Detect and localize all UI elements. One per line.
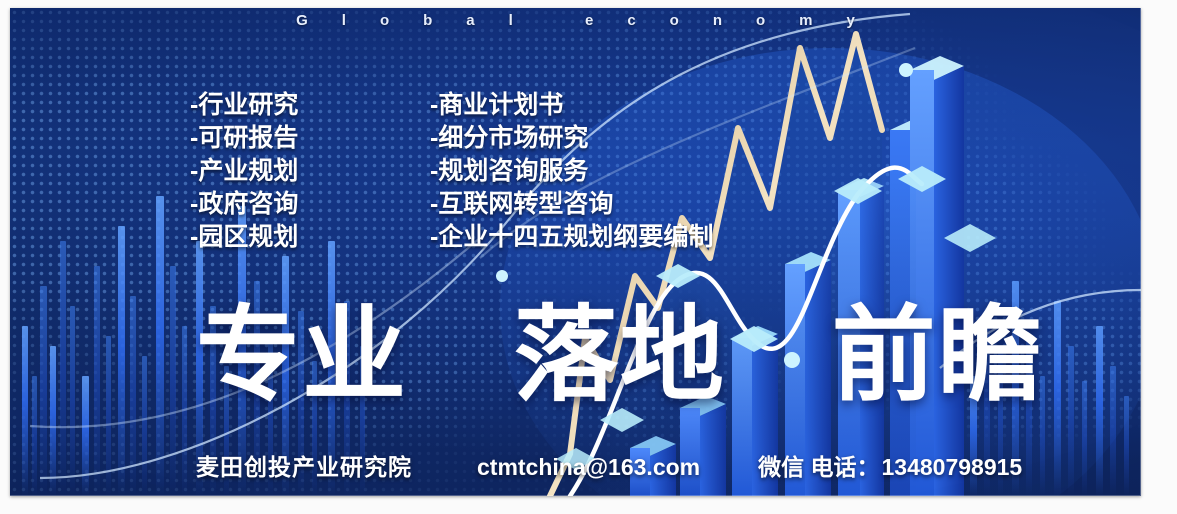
list-item: -产业规划: [190, 158, 430, 185]
list-item: -园区规划: [190, 224, 430, 251]
headline: 专业 落地 前瞻: [196, 304, 1044, 408]
headline-part-3: 前瞻: [832, 298, 1044, 414]
list-item: -行业研究: [190, 92, 430, 119]
list-item: -规划咨询服务: [430, 158, 713, 185]
list-item: -商业计划书: [430, 92, 713, 119]
organization-name: 麦田创投产业研究院: [196, 448, 412, 482]
email-address[interactable]: ctmtchina@163.com: [477, 454, 700, 481]
list-item: -可研报告: [190, 125, 430, 152]
contact-label: 微信 电话：: [758, 448, 879, 482]
headline-part-2: 落地: [514, 298, 726, 414]
headline-part-1: 专业: [196, 298, 408, 414]
service-lists: -行业研究 -可研报告 -产业规划 -政府咨询 -园区规划 -商业计划书 -细分…: [190, 92, 713, 251]
growth-chart-graphic: [10, 8, 1141, 496]
list-item: -政府咨询: [190, 191, 430, 218]
service-list-left: -行业研究 -可研报告 -产业规划 -政府咨询 -园区规划: [190, 92, 430, 251]
bar-7: [910, 56, 964, 496]
list-item: -细分市场研究: [430, 125, 713, 152]
list-item: -企业十四五规划纲要编制: [430, 224, 713, 251]
phone-number[interactable]: 13480798915: [882, 454, 1023, 481]
screenshot-root: Global economy -行业研究 -可研报告 -产业规划 -政府咨询 -…: [0, 0, 1177, 514]
promo-banner: Global economy -行业研究 -可研报告 -产业规划 -政府咨询 -…: [10, 8, 1141, 496]
service-list-right: -商业计划书 -细分市场研究 -规划咨询服务 -互联网转型咨询 -企业十四五规划…: [430, 92, 713, 251]
list-item: -互联网转型咨询: [430, 191, 713, 218]
footer-contact-row: 麦田创投产业研究院 ctmtchina@163.com 微信 电话： 13480…: [196, 448, 1022, 482]
top-track-label: Global economy: [10, 12, 1141, 29]
